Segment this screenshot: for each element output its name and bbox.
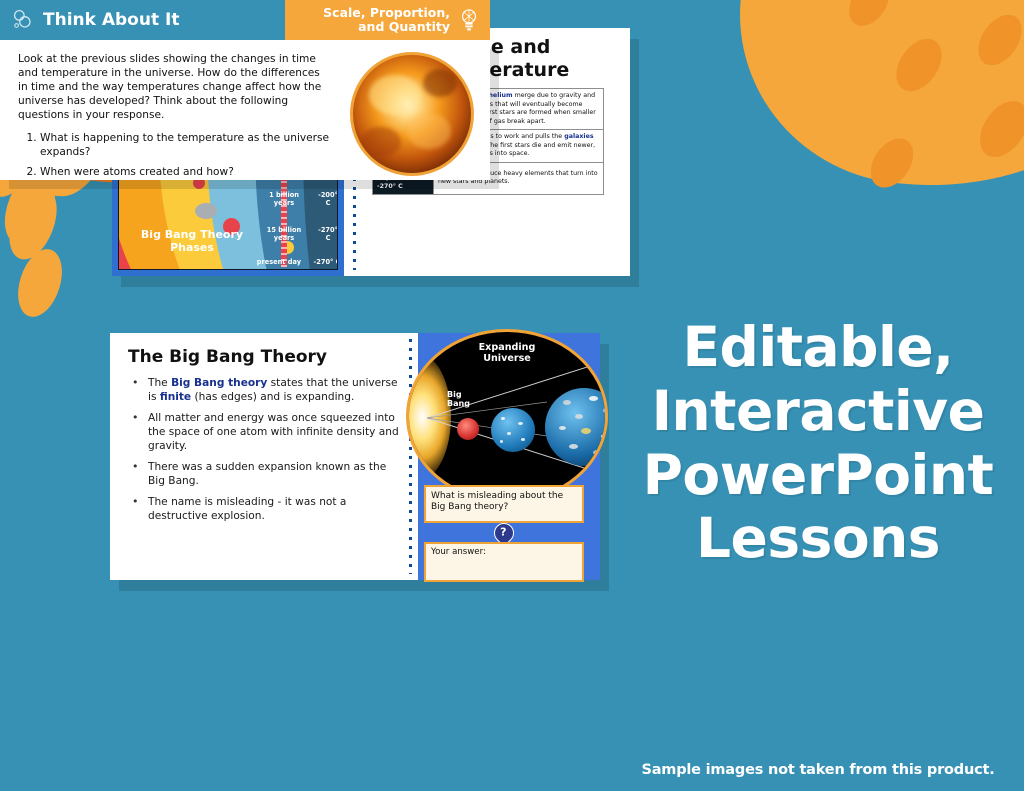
- universe-stage-1: [457, 418, 479, 440]
- question-box: What is misleading about the Big Bang th…: [424, 485, 584, 523]
- universe-stage-2: [491, 408, 535, 452]
- headline-line-3: PowerPoint: [612, 444, 1024, 508]
- thought-bubble-icon: [12, 9, 34, 31]
- label-present-day: present day: [247, 259, 301, 267]
- temp-minus270: -270°C: [315, 227, 338, 243]
- headline: Editable, Interactive PowerPoint Lessons: [612, 316, 1024, 571]
- diagram-caption: Big Bang TheoryPhases: [127, 228, 257, 256]
- temp-minus200: -200°C: [315, 192, 338, 208]
- list-item: The Big Bang theory states that the univ…: [126, 377, 406, 405]
- slide3-question-list: What is happening to the temperature as …: [18, 131, 352, 178]
- headline-line-1: Editable,: [612, 316, 1024, 380]
- orange-dot-tr-4: [841, 0, 897, 33]
- slide-think-about-it[interactable]: Think About It Scale, Proportion,and Qua…: [0, 0, 490, 180]
- crosscutting-concept-tag: Scale, Proportion,and Quantity: [285, 0, 490, 40]
- sample-images-note: Sample images not taken from this produc…: [612, 762, 1024, 778]
- slide2-bullet-list: The Big Bang theory states that the univ…: [126, 377, 406, 524]
- slide2-title: The Big Bang Theory: [128, 347, 406, 367]
- list-item: When were atoms created and how?: [40, 165, 352, 179]
- slide2-image-panel: ExpandingUniverse BigBang What is mislea…: [418, 333, 600, 580]
- slide3-header-bar: Think About It Scale, Proportion,and Qua…: [0, 0, 490, 40]
- planet-saturn: [195, 203, 217, 219]
- lightbulb-icon: [458, 8, 480, 32]
- crosscutting-concept-label: Scale, Proportion,and Quantity: [323, 6, 450, 35]
- answer-input-box[interactable]: Your answer:: [424, 542, 584, 582]
- list-item: All matter and energy was once squeezed …: [126, 412, 406, 454]
- list-item: The name is misleading - it was not a de…: [126, 496, 406, 524]
- poster-canvas: Editable, Interactive PowerPoint Lessons…: [0, 0, 1024, 791]
- label-present-temp: -270° C: [307, 259, 338, 267]
- expanding-universe-image: ExpandingUniverse BigBang: [406, 329, 608, 503]
- orange-dot-tr-5: [862, 131, 922, 196]
- gold-ellipse-9: [10, 244, 70, 323]
- slide2-text-panel: The Big Bang Theory The Big Bang theory …: [110, 333, 418, 580]
- slide3-paragraph: Look at the previous slides showing the …: [18, 52, 330, 122]
- list-item: There was a sudden expansion known as th…: [126, 461, 406, 489]
- list-item: What is happening to the temperature as …: [40, 131, 352, 159]
- think-about-it-label: Think About It: [43, 10, 179, 30]
- gold-ellipse-6: [0, 180, 65, 266]
- headline-line-2: Interactive: [612, 380, 1024, 444]
- label-1-billion-inner: 1 billionyears: [262, 192, 306, 208]
- expanding-universe-title: ExpandingUniverse: [409, 342, 605, 365]
- orange-dot-tr-1: [887, 30, 951, 99]
- label-15-billion-inner: 15 billionyears: [262, 227, 306, 243]
- big-bang-label: BigBang: [447, 390, 470, 408]
- orange-dot-tr-3: [970, 92, 1024, 166]
- gold-blob-top-right: [718, 0, 1024, 218]
- think-about-it-header: Think About It: [0, 0, 285, 40]
- nebula-explosion-image: [350, 52, 474, 176]
- orange-dot-tr-2: [969, 7, 1024, 74]
- slide-big-bang-theory[interactable]: The Big Bang Theory The Big Bang theory …: [110, 333, 600, 580]
- headline-line-4: Lessons: [612, 507, 1024, 571]
- slide3-body: Look at the previous slides showing the …: [0, 40, 490, 180]
